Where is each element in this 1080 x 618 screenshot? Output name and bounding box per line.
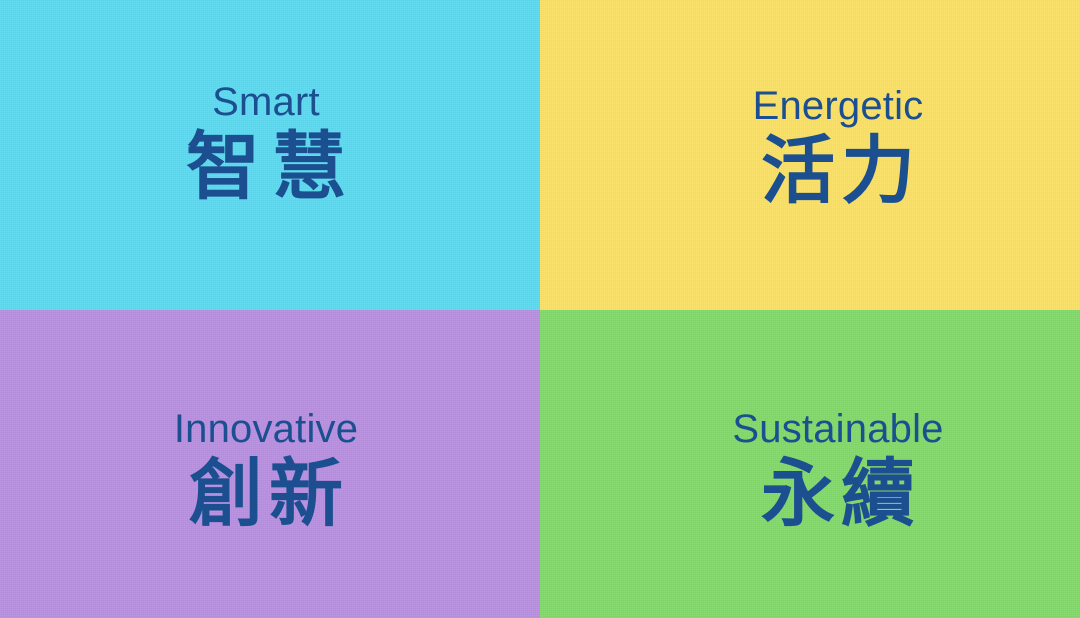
panel-label-zh-innovative: 創新 (183, 457, 349, 531)
panel-sustainable[interactable]: Sustainable 永續 (540, 310, 1080, 618)
panel-label-zh-energetic: 活力 (755, 134, 921, 208)
label-stack-smart: Smart 智慧 (174, 82, 358, 204)
panel-innovative[interactable]: Innovative 創新 (0, 310, 540, 618)
panel-label-en-innovative: Innovative (174, 409, 358, 449)
brand-values-grid: Smart 智慧 Energetic 活力 Innovative 創新 Sust… (0, 0, 1080, 618)
panel-label-zh-sustainable: 永續 (755, 457, 921, 531)
label-stack-sustainable: Sustainable 永續 (732, 409, 943, 531)
label-stack-energetic: Energetic 活力 (753, 86, 924, 208)
panel-label-en-sustainable: Sustainable (732, 409, 943, 449)
label-stack-innovative: Innovative 創新 (174, 409, 358, 531)
panel-label-en-smart: Smart (212, 82, 320, 122)
panel-energetic[interactable]: Energetic 活力 (540, 0, 1080, 310)
panel-label-en-energetic: Energetic (753, 86, 924, 126)
panel-smart[interactable]: Smart 智慧 (0, 0, 540, 310)
panel-label-zh-smart: 智慧 (174, 130, 358, 204)
